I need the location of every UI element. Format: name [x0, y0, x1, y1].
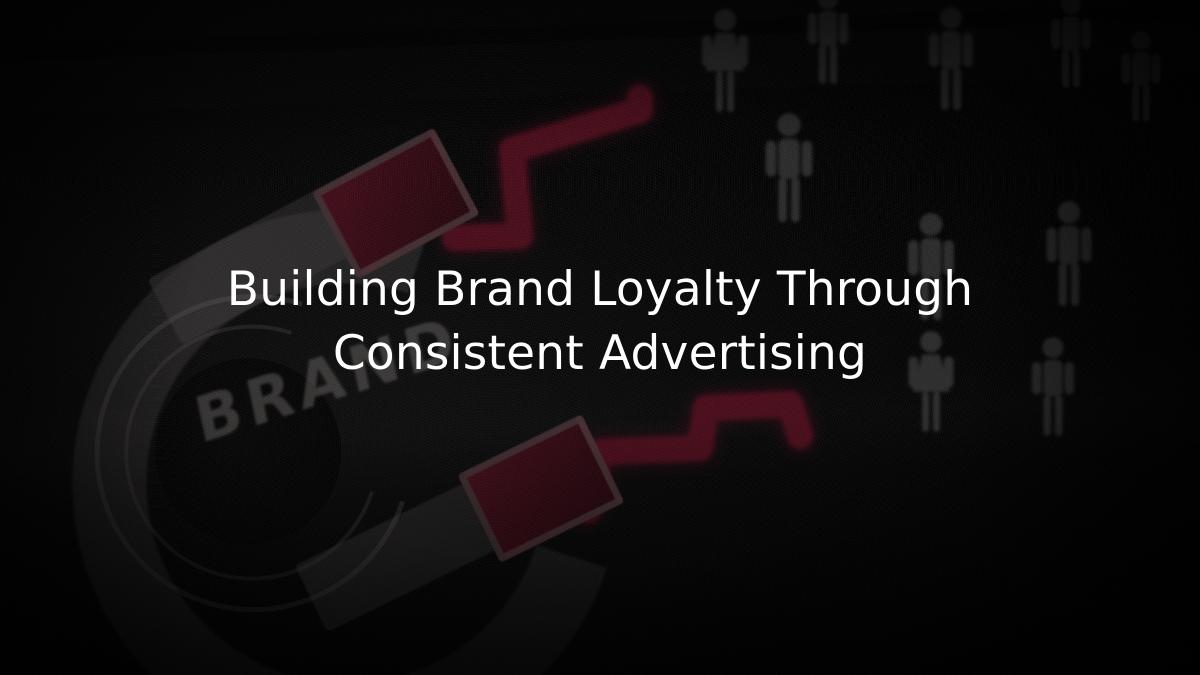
hero-banner: BRAND Building Brand Loyalty Through Con…	[0, 0, 1200, 675]
hero-title-line-2: Consistent Advertising	[60, 322, 1140, 386]
hero-title: Building Brand Loyalty Through Consisten…	[0, 258, 1200, 386]
hero-title-line-1: Building Brand Loyalty Through	[60, 258, 1140, 322]
